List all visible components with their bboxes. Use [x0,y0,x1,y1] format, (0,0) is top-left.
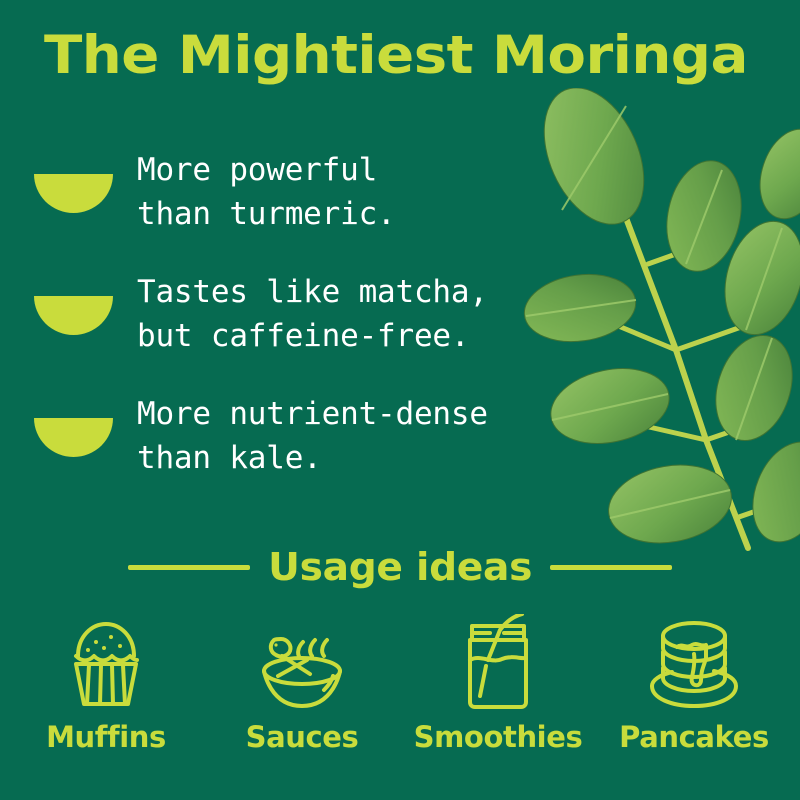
usage-ideas-title: Usage ideas [268,545,532,589]
divider-left [128,565,250,570]
usage-item-sauces: Sauces [213,614,391,754]
pancake-stack-icon [642,614,746,714]
usage-item-muffins: Muffins [17,614,195,754]
mason-jar-icon [446,614,550,714]
poster: The Mightiest Moringa More powerful than… [0,0,800,800]
list-item: Tastes like matcha, but caffeine-free. [34,270,594,358]
benefit-text: More powerful than turmeric. [137,148,396,236]
half-circle-bullet-icon [34,296,113,335]
usage-item-pancakes: Pancakes [605,614,783,754]
divider-right [550,565,672,570]
page-title: The Mightiest Moringa [44,28,800,84]
bowl-spoon-icon [250,614,354,714]
usage-label: Pancakes [619,720,769,754]
muffin-icon [54,614,158,714]
usage-ideas-list: Muffins Sauces [0,614,800,754]
benefit-text: Tastes like matcha, but caffeine-free. [137,270,488,358]
usage-label: Smoothies [414,720,583,754]
benefits-list: More powerful than turmeric. Tastes like… [34,148,594,514]
usage-item-smoothies: Smoothies [409,614,587,754]
usage-ideas-heading: Usage ideas [0,545,800,589]
usage-label: Muffins [46,720,166,754]
benefit-text: More nutrient-dense than kale. [137,392,488,480]
usage-label: Sauces [246,720,359,754]
half-circle-bullet-icon [34,174,113,213]
list-item: More nutrient-dense than kale. [34,392,594,480]
half-circle-bullet-icon [34,418,113,457]
list-item: More powerful than turmeric. [34,148,594,236]
